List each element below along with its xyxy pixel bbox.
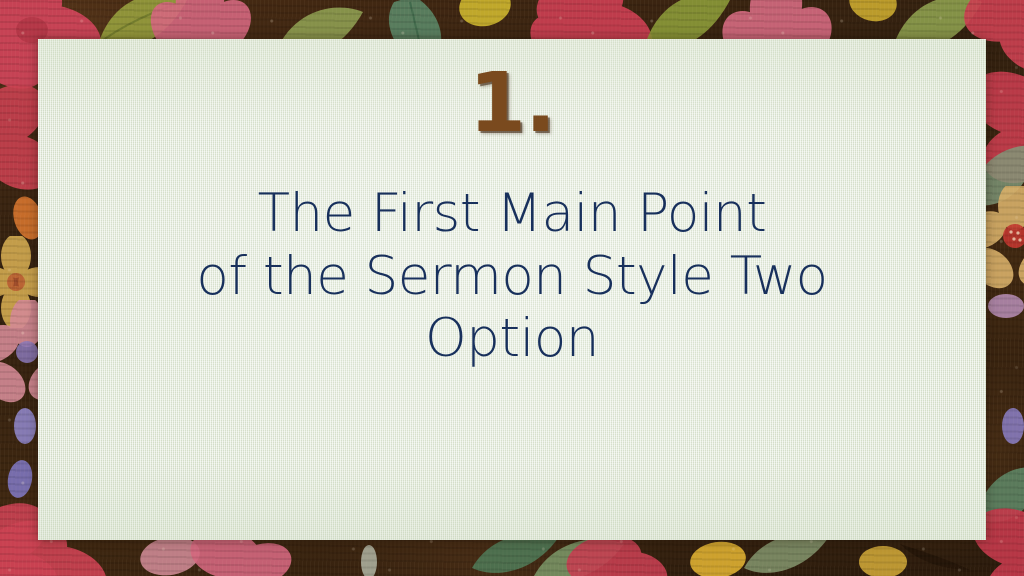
content-card: 1. The First Main Point of the Sermon St…	[38, 39, 986, 540]
point-number: 1.	[469, 63, 555, 145]
headline-line-2: of the Sermon Style Two	[132, 246, 892, 309]
headline: The First Main Point of the Sermon Style…	[132, 183, 892, 371]
headline-line-1: The First Main Point	[132, 183, 892, 246]
slide: 1. The First Main Point of the Sermon St…	[0, 0, 1024, 576]
headline-line-3: Option	[132, 308, 892, 371]
card-content: 1. The First Main Point of the Sermon St…	[38, 39, 986, 540]
